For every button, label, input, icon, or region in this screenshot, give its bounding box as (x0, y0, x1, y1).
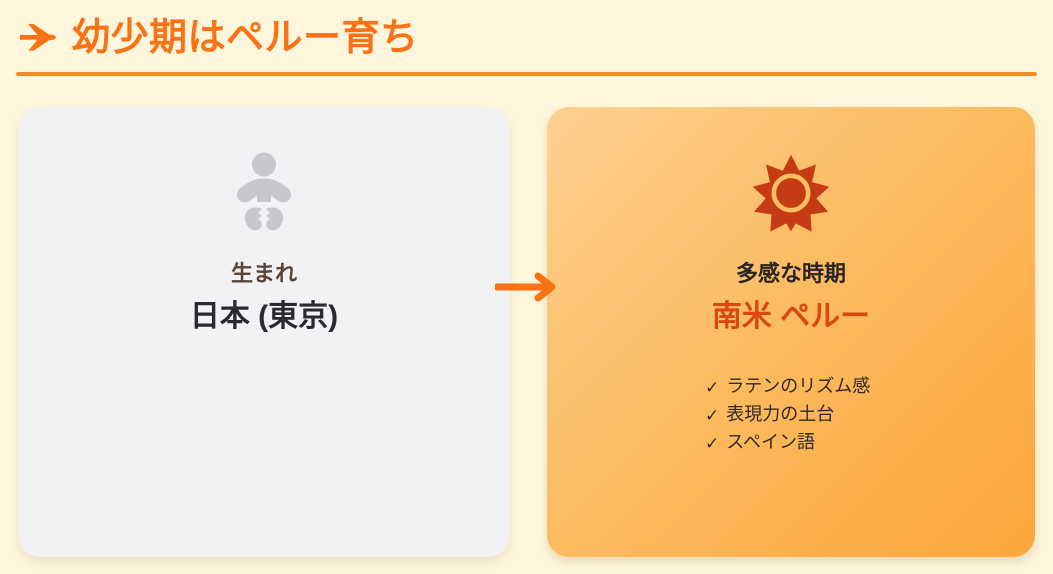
origin-icon-wrap (231, 147, 297, 239)
checklist-item: ✓ 表現力の土台 (705, 401, 1035, 429)
checklist-item: ✓ ラテンのリズム感 (705, 373, 1035, 401)
slide-root: 幼少期はペルー育ち 生まれ 日本 (東京) (0, 0, 1053, 574)
card-origin[interactable]: 生まれ 日本 (東京) (18, 107, 510, 557)
cards-container: 生まれ 日本 (東京) 多感な時期 南米 ペルー ✓ ラテンのリズム感 (0, 107, 1053, 559)
checklist-item-label: 表現力の土台 (726, 401, 834, 429)
checklist-item-label: ラテンのリズム感 (726, 373, 870, 401)
airplane-icon (16, 21, 58, 55)
baby-icon (231, 152, 297, 234)
check-icon: ✓ (705, 407, 719, 424)
checklist-item-label: スペイン語 (726, 429, 815, 457)
destination-value: 南米 ペルー (712, 299, 870, 335)
arrow-right-icon (495, 271, 561, 303)
slide-header: 幼少期はペルー育ち (16, 12, 1037, 74)
header-row: 幼少期はペルー育ち (16, 12, 1037, 64)
page-title: 幼少期はペルー育ち (72, 19, 419, 57)
origin-label: 生まれ (231, 261, 297, 287)
destination-checklist: ✓ ラテンのリズム感 ✓ 表現力の土台 ✓ スペイン語 (547, 373, 1035, 457)
card-destination[interactable]: 多感な時期 南米 ペルー ✓ ラテンのリズム感 ✓ 表現力の土台 ✓ スペイン語 (547, 107, 1035, 557)
title-divider (16, 72, 1037, 76)
destination-label: 多感な時期 (736, 261, 846, 287)
checklist-item: ✓ スペイン語 (705, 429, 1035, 457)
origin-value: 日本 (東京) (190, 299, 338, 335)
check-icon: ✓ (705, 435, 719, 452)
sun-icon (752, 154, 830, 232)
check-icon: ✓ (705, 379, 719, 396)
destination-icon-wrap (752, 147, 830, 239)
